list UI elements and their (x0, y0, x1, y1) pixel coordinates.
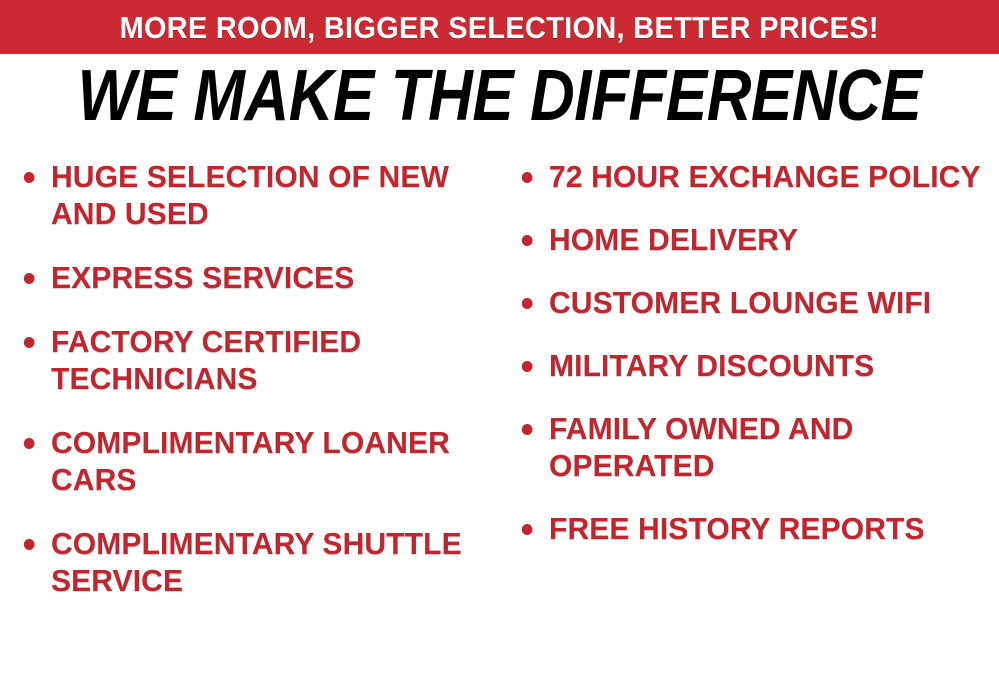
list-item-label: HUGE SELECTION OF NEW AND USED (51, 158, 495, 232)
list-item: COMPLIMENTARY SHUTTLE SERVICE (18, 525, 495, 599)
list-item: EXPRESS SERVICES (18, 259, 495, 296)
list-item-label: FACTORY CERTIFIED TECHNICIANS (51, 323, 495, 397)
bullet-dot-icon (522, 361, 533, 372)
bullet-dot-icon (24, 337, 35, 348)
bullet-dot-icon (24, 539, 35, 550)
bullet-dot-icon (522, 235, 533, 246)
list-item: COMPLIMENTARY LOANER CARS (18, 424, 495, 498)
benefits-columns: HUGE SELECTION OF NEW AND USED EXPRESS S… (0, 158, 999, 692)
bullet-dot-icon (522, 172, 533, 183)
page-title: WE MAKE THE DIFFERENCE (78, 60, 922, 132)
list-item-label: FAMILY OWNED AND OPERATED (549, 410, 985, 484)
bullet-dot-icon (24, 273, 35, 284)
list-item: FREE HISTORY REPORTS (516, 510, 985, 547)
bullet-dot-icon (522, 424, 533, 435)
list-item-label: EXPRESS SERVICES (51, 259, 495, 296)
benefits-column-left: HUGE SELECTION OF NEW AND USED EXPRESS S… (18, 158, 510, 626)
headline-block: WE MAKE THE DIFFERENCE (0, 60, 999, 132)
list-item: HUGE SELECTION OF NEW AND USED (18, 158, 495, 232)
benefits-column-right: 72 HOUR EXCHANGE POLICY HOME DELIVERY CU… (516, 158, 999, 573)
promo-poster: MORE ROOM, BIGGER SELECTION, BETTER PRIC… (0, 0, 999, 692)
list-item: FACTORY CERTIFIED TECHNICIANS (18, 323, 495, 397)
list-item: MILITARY DISCOUNTS (516, 347, 985, 384)
list-item-label: 72 HOUR EXCHANGE POLICY (549, 158, 985, 195)
bullet-dot-icon (522, 524, 533, 535)
list-item-label: MILITARY DISCOUNTS (549, 347, 985, 384)
list-item-label: FREE HISTORY REPORTS (549, 510, 985, 547)
list-item-label: COMPLIMENTARY SHUTTLE SERVICE (51, 525, 495, 599)
bullet-dot-icon (24, 172, 35, 183)
bullet-dot-icon (522, 298, 533, 309)
list-item: 72 HOUR EXCHANGE POLICY (516, 158, 985, 195)
list-item-label: COMPLIMENTARY LOANER CARS (51, 424, 495, 498)
list-item-label: HOME DELIVERY (549, 221, 985, 258)
top-banner: MORE ROOM, BIGGER SELECTION, BETTER PRIC… (0, 0, 999, 54)
list-item: CUSTOMER LOUNGE WIFI (516, 284, 985, 321)
banner-headline: MORE ROOM, BIGGER SELECTION, BETTER PRIC… (120, 12, 879, 43)
list-item: FAMILY OWNED AND OPERATED (516, 410, 985, 484)
bullet-dot-icon (24, 438, 35, 449)
list-item-label: CUSTOMER LOUNGE WIFI (549, 284, 985, 321)
list-item: HOME DELIVERY (516, 221, 985, 258)
